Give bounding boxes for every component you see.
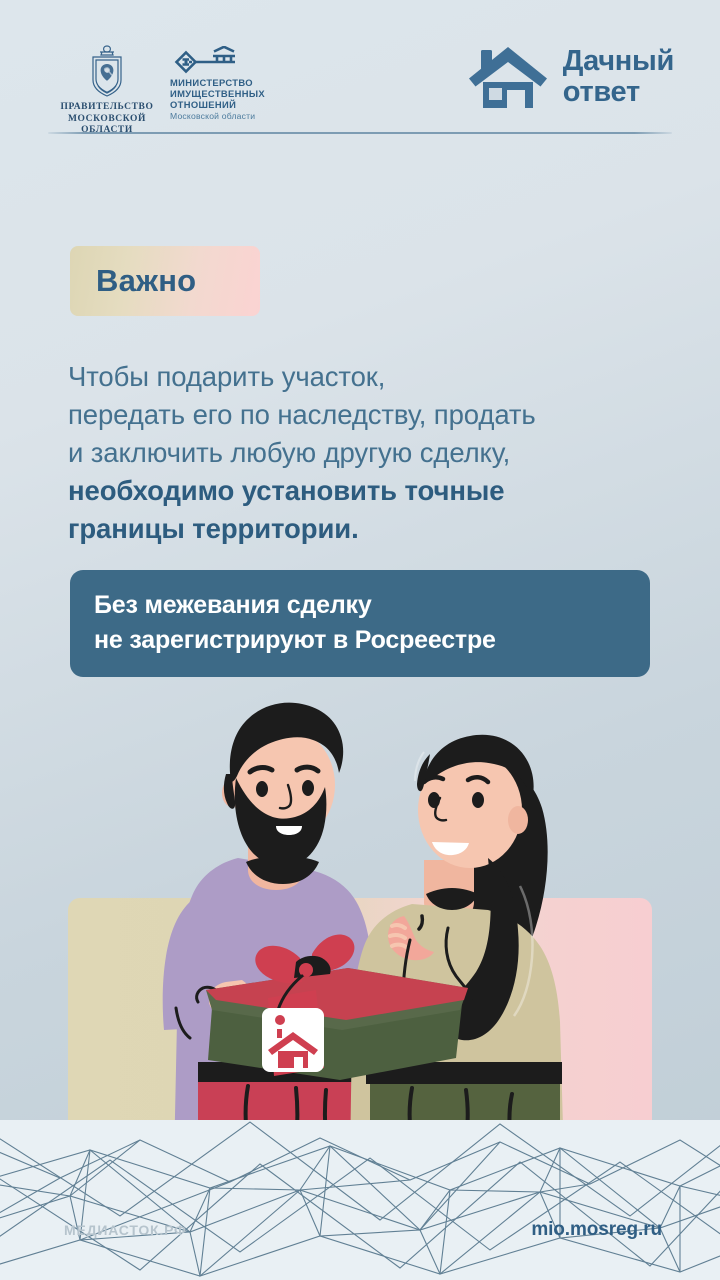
ministry-logo-subtitle: Московской области (170, 111, 330, 122)
body-bold-line-2: границы территории. (68, 510, 668, 548)
footer-website[interactable]: mio.mosreg.ru (531, 1219, 662, 1241)
body-line-2: передать его по наследству, продать (68, 396, 668, 434)
government-logo-line1: ПРАВИТЕЛЬСТВО (42, 102, 172, 114)
coat-of-arms-icon (81, 42, 133, 100)
callout-line-1: Без межевания сделку (94, 588, 650, 623)
woman-figure (350, 735, 564, 1162)
ministry-logo-line1: МИНИСТЕРСТВО (170, 77, 330, 88)
callout-line-2: не зарегистрируют в Росреестре (94, 623, 650, 658)
government-logo-line3: ОБЛАСТИ (42, 125, 172, 137)
government-logo-line2: МОСКОВСКОЙ (42, 114, 172, 126)
ministry-logo-line2: ИМУЩЕСТВЕННЫХ (170, 88, 330, 99)
footer-watermark: МЕДИАСТОК.РФ (64, 1222, 187, 1238)
ministry-logo-line3: ОТНОШЕНИЙ (170, 99, 330, 110)
important-badge-label: Важно (96, 263, 196, 299)
body-bold-line-1: необходимо установить точные (68, 472, 668, 510)
house-icon (467, 44, 549, 110)
brand-line1: Дачный (563, 46, 674, 77)
man-figure (163, 703, 372, 1162)
key-house-mark-icon (170, 46, 295, 74)
couple-with-gift-illustration (0, 690, 720, 1170)
body-line-3: и заключить любую другую сделку, (68, 434, 668, 472)
callout-box: Без межевания сделку не зарегистрируют в… (70, 570, 650, 677)
body-line-1: Чтобы подарить участок, (68, 358, 668, 396)
body-copy: Чтобы подарить участок, передать его по … (68, 358, 668, 548)
header: ПРАВИТЕЛЬСТВО МОСКОВСКОЙ ОБЛАСТИ МИНИСТЕ… (0, 0, 720, 134)
mesh-pattern (0, 1120, 720, 1280)
brand-text: Дачный ответ (563, 46, 674, 108)
important-badge: Важно (70, 246, 260, 316)
illustration (0, 690, 720, 1170)
header-divider (48, 132, 672, 134)
government-logo: ПРАВИТЕЛЬСТВО МОСКОВСКОЙ ОБЛАСТИ (42, 42, 172, 137)
brand-line2: ответ (563, 77, 674, 108)
brand-logo: Дачный ответ (467, 44, 674, 110)
ministry-logo: МИНИСТЕРСТВО ИМУЩЕСТВЕННЫХ ОТНОШЕНИЙ Мос… (170, 46, 330, 122)
triangle-mesh-graphic (0, 1120, 720, 1280)
poster-canvas: ПРАВИТЕЛЬСТВО МОСКОВСКОЙ ОБЛАСТИ МИНИСТЕ… (0, 0, 720, 1280)
